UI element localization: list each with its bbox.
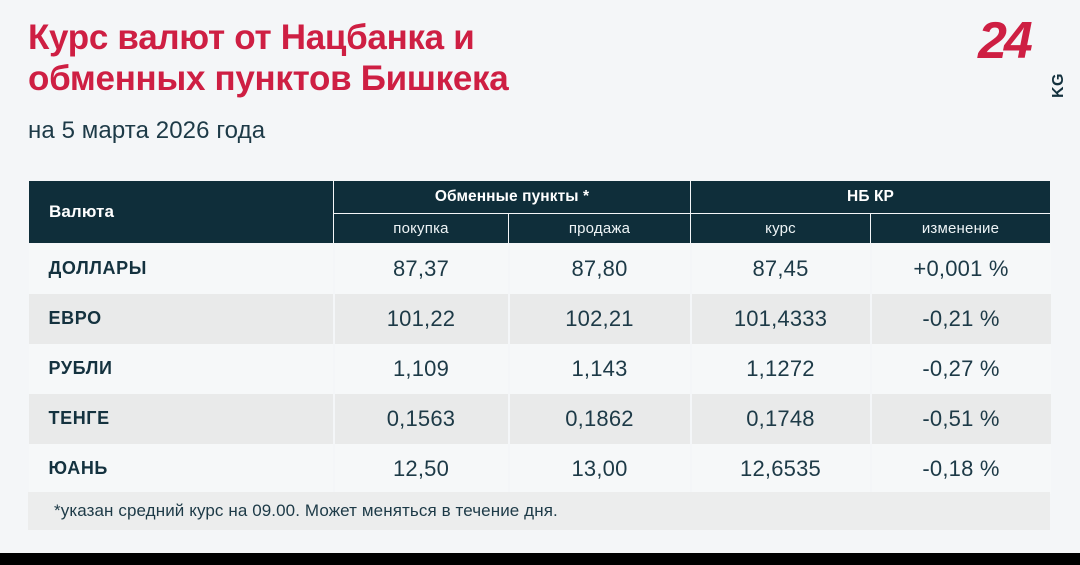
- cell-change: -0,51 %: [871, 394, 1051, 444]
- cell-rate: 0,1748: [691, 394, 871, 444]
- table-row: ДОЛЛАРЫ 87,37 87,80 87,45 +0,001 %: [29, 244, 1051, 294]
- cell-change: +0,001 %: [871, 244, 1051, 294]
- cell-sell: 102,21: [509, 294, 691, 344]
- cell-buy: 87,37: [334, 244, 509, 294]
- cell-buy: 101,22: [334, 294, 509, 344]
- cell-currency: ДОЛЛАРЫ: [29, 244, 334, 294]
- rates-table-body: ДОЛЛАРЫ 87,37 87,80 87,45 +0,001 % ЕВРО …: [29, 244, 1051, 494]
- logo-24kg: 24 KG: [978, 15, 1070, 77]
- cell-currency: ЕВРО: [29, 294, 334, 344]
- table-row: РУБЛИ 1,109 1,143 1,1272 -0,27 %: [29, 344, 1051, 394]
- cell-sell: 13,00: [509, 444, 691, 494]
- cell-currency: ТЕНГЕ: [29, 394, 334, 444]
- logo-suffix: KG: [1050, 73, 1068, 98]
- cell-rate: 1,1272: [691, 344, 871, 394]
- column-group-nbkr: НБ КР: [691, 181, 1051, 214]
- cell-rate: 87,45: [691, 244, 871, 294]
- cell-rate: 12,6535: [691, 444, 871, 494]
- column-header-rate: курс: [691, 214, 871, 244]
- table-row: ТЕНГЕ 0,1563 0,1862 0,1748 -0,51 %: [29, 394, 1051, 444]
- cell-sell: 1,143: [509, 344, 691, 394]
- bottom-black-bar: [0, 553, 1080, 565]
- page-title-line-1: Курс валют от Нацбанка и: [28, 18, 728, 59]
- cell-currency: РУБЛИ: [29, 344, 334, 394]
- cell-sell: 87,80: [509, 244, 691, 294]
- cell-sell: 0,1862: [509, 394, 691, 444]
- rates-table-wrapper: Валюта Обменные пункты * НБ КР покупка п…: [28, 180, 1050, 494]
- cell-currency: ЮАНЬ: [29, 444, 334, 494]
- column-header-change: изменение: [871, 214, 1051, 244]
- footnote: *указан средний курс на 09.00. Может мен…: [28, 492, 1050, 530]
- cell-change: -0,18 %: [871, 444, 1051, 494]
- cell-buy: 12,50: [334, 444, 509, 494]
- cell-change: -0,21 %: [871, 294, 1051, 344]
- rates-table: Валюта Обменные пункты * НБ КР покупка п…: [28, 180, 1051, 494]
- cell-change: -0,27 %: [871, 344, 1051, 394]
- table-row: ЮАНЬ 12,50 13,00 12,6535 -0,18 %: [29, 444, 1051, 494]
- infographic-page: Курс валют от Нацбанка и обменных пункто…: [0, 0, 1080, 553]
- rates-table-head: Валюта Обменные пункты * НБ КР покупка п…: [29, 181, 1051, 244]
- column-header-sell: продажа: [509, 214, 691, 244]
- logo-number: 24: [978, 15, 1030, 67]
- column-group-exchange-points: Обменные пункты *: [334, 181, 691, 214]
- header-row-groups: Валюта Обменные пункты * НБ КР: [29, 181, 1051, 214]
- column-header-buy: покупка: [334, 214, 509, 244]
- cell-buy: 0,1563: [334, 394, 509, 444]
- page-title: Курс валют от Нацбанка и обменных пункто…: [28, 18, 728, 100]
- column-header-currency: Валюта: [29, 181, 334, 244]
- footnote-text: *указан средний курс на 09.00. Может мен…: [54, 501, 558, 521]
- cell-buy: 1,109: [334, 344, 509, 394]
- masthead: Курс валют от Нацбанка и обменных пункто…: [28, 18, 1050, 158]
- table-row: ЕВРО 101,22 102,21 101,4333 -0,21 %: [29, 294, 1051, 344]
- page-title-line-2: обменных пунктов Бишкека: [28, 59, 728, 100]
- cell-rate: 101,4333: [691, 294, 871, 344]
- page-subtitle-date: на 5 марта 2026 года: [28, 117, 1050, 145]
